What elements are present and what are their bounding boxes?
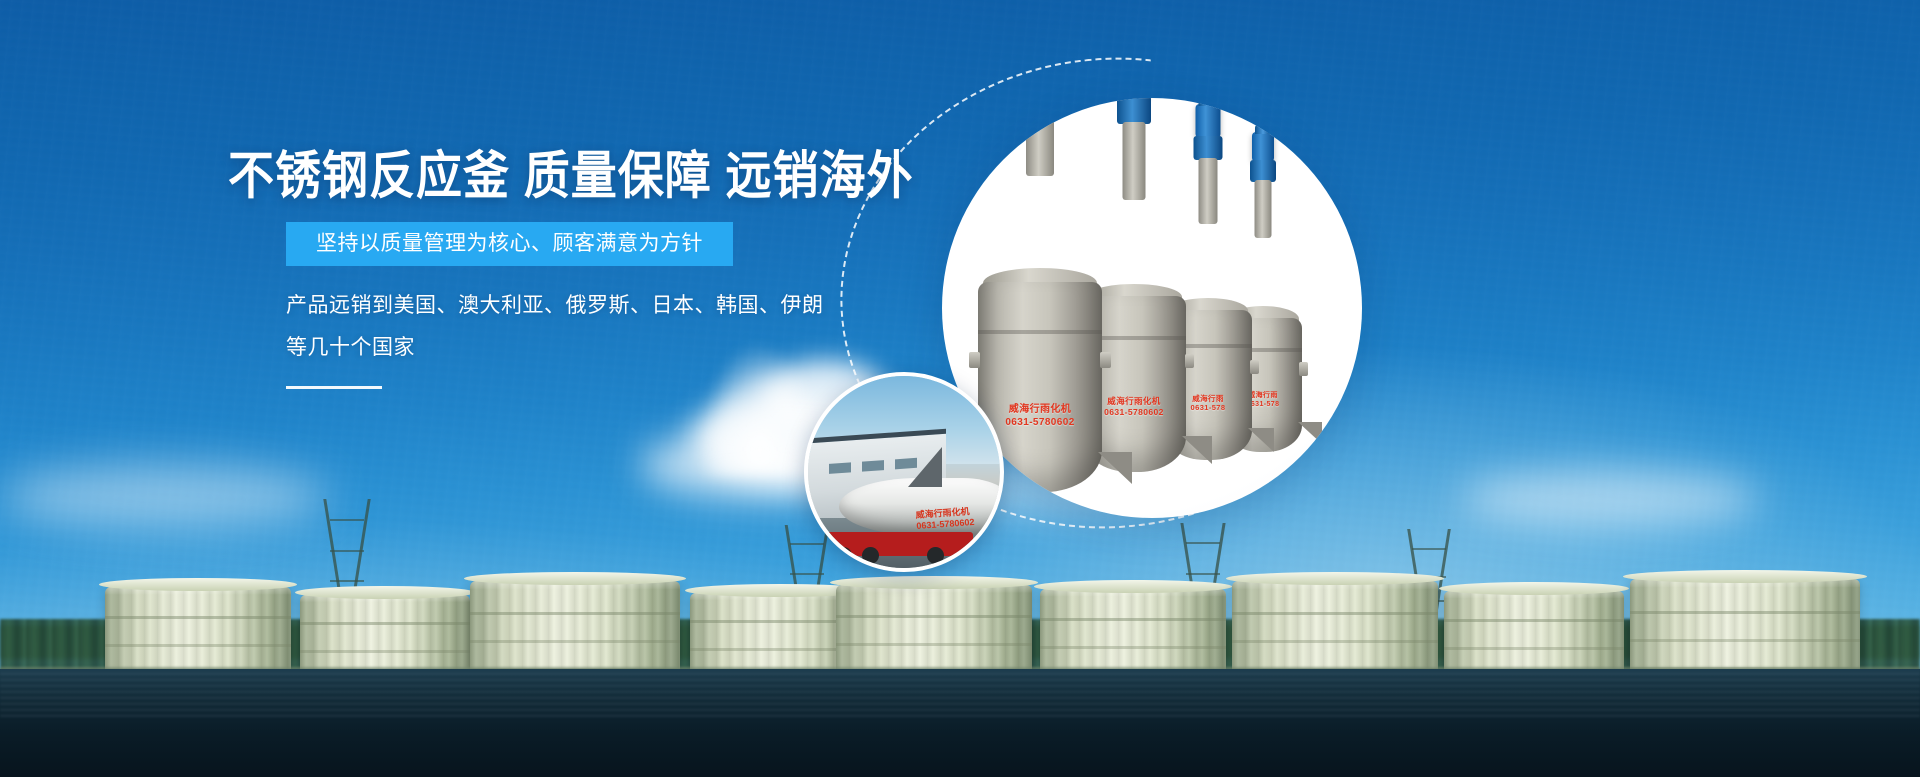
copy-block: 不锈钢反应釜 质量保障 远销海外 坚持以质量管理为核心、顾客满意为方针 产品远销… <box>228 150 908 389</box>
storage-tank <box>470 581 680 673</box>
body-text: 产品远销到美国、澳大利亚、俄罗斯、日本、韩国、伊朗 等几十个国家 <box>286 292 908 362</box>
water-reflection <box>0 669 1920 717</box>
storage-tank <box>1232 581 1438 673</box>
subtitle-band: 坚持以质量管理为核心、顾客满意为方针 <box>286 222 733 266</box>
body-line: 产品远销到美国、澳大利亚、俄罗斯、日本、韩国、伊朗 <box>286 292 908 320</box>
storage-tank <box>1040 589 1226 673</box>
body-line: 等几十个国家 <box>286 334 908 362</box>
cloud <box>0 465 330 529</box>
factory-circle: 威海行雨化机 0631-5780602 <box>804 372 1004 572</box>
divider-rule <box>286 386 382 389</box>
storage-tank <box>1444 591 1624 673</box>
storage-tank <box>300 595 470 673</box>
tanker-fin <box>908 447 942 487</box>
storage-tank <box>105 587 291 673</box>
cloud <box>1460 470 1760 528</box>
hero-banner: 威海行雨 0631-578 威海行雨 0631-578 <box>0 0 1920 777</box>
storage-tank <box>1630 579 1860 673</box>
storage-tank <box>836 585 1032 673</box>
product-circle: 威海行雨 0631-578 威海行雨 0631-578 <box>942 98 1362 518</box>
headline: 不锈钢反应釜 质量保障 远销海外 <box>228 150 908 202</box>
tanker-brand: 威海行雨化机 0631-5780602 <box>915 506 974 532</box>
subtitle-text: 坚持以质量管理为核心、顾客满意为方针 <box>316 232 703 255</box>
